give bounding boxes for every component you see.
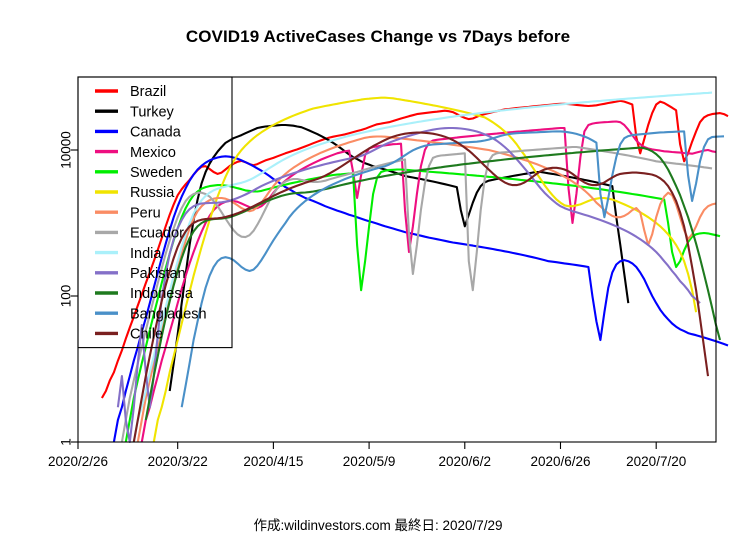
legend-label-sweden: Sweden: [130, 165, 182, 181]
legend-label-turkey: Turkey: [130, 104, 175, 120]
y-tick-label: 100: [59, 285, 74, 308]
legend-label-indonesia: Indonesia: [130, 286, 194, 302]
x-tick-label: 2020/3/22: [148, 454, 208, 469]
legend-label-chile: Chile: [130, 327, 163, 343]
legend-label-india: India: [130, 246, 162, 262]
y-tick-label: 1: [59, 438, 74, 446]
x-tick-label: 2020/2/26: [48, 454, 108, 469]
legend-label-canada: Canada: [130, 125, 182, 141]
legend-layer: BrazilTurkeyCanadaMexicoSwedenRussiaPeru…: [78, 77, 232, 348]
footer-credit: 作成:wildinvestors.com 最終日: 2020/7/29: [0, 514, 756, 534]
y-tick-label: 10000: [59, 131, 74, 169]
chart-page: COVID19 ActiveCases Change vs 7Days befo…: [0, 0, 756, 540]
line-chart-plot: 1100100002020/2/262020/3/222020/4/152020…: [0, 0, 756, 540]
x-tick-label: 2020/6/2: [439, 454, 492, 469]
x-tick-label: 2020/5/9: [343, 454, 396, 469]
legend-label-peru: Peru: [130, 205, 161, 221]
x-tick-label: 2020/7/20: [626, 454, 686, 469]
legend-label-bangladesh: Bangladesh: [130, 306, 207, 322]
x-tick-label: 2020/4/15: [243, 454, 303, 469]
legend-label-russia: Russia: [130, 185, 175, 201]
legend-label-pakistan: Pakistan: [130, 266, 186, 282]
legend-label-brazil: Brazil: [130, 84, 166, 100]
legend-label-ecuador: Ecuador: [130, 226, 184, 242]
x-tick-label: 2020/6/26: [530, 454, 590, 469]
legend-label-mexico: Mexico: [130, 145, 176, 161]
series-line-turkey: [170, 125, 629, 391]
